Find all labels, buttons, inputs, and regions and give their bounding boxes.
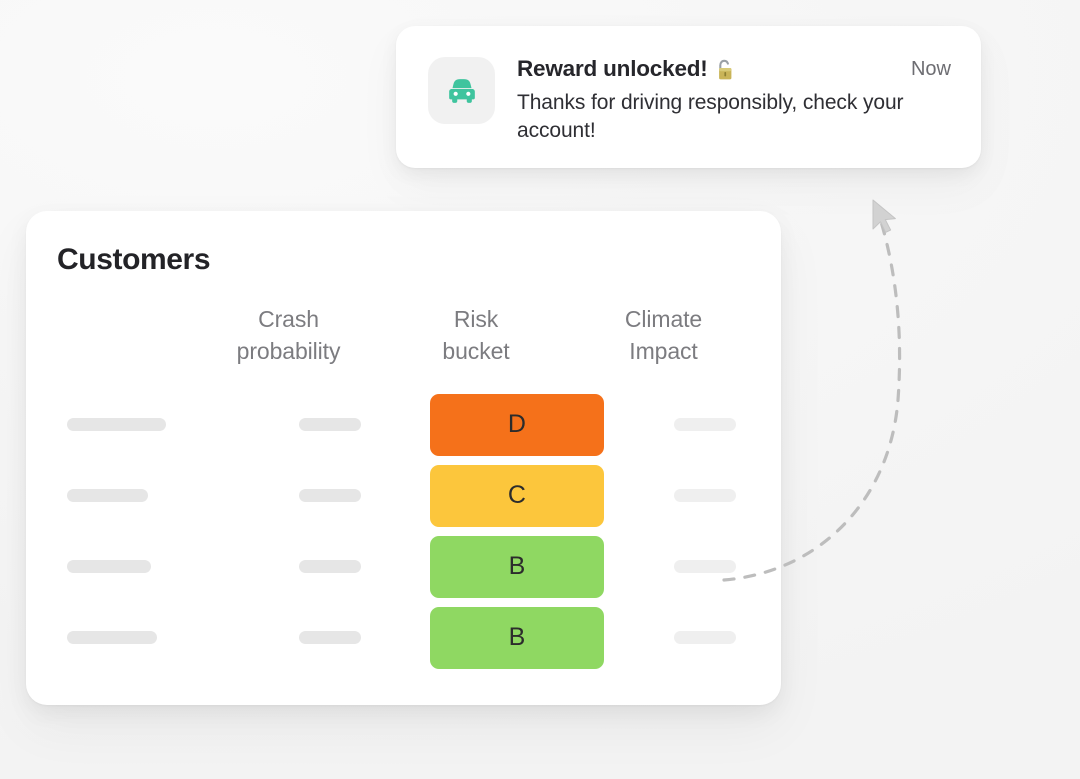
climate-placeholder-bar <box>674 631 736 644</box>
notification-toast[interactable]: Reward unlocked! Now Thanks for driving … <box>396 26 981 168</box>
column-header-crash-line1: Crash <box>201 304 376 336</box>
climate-placeholder-bar <box>674 560 736 573</box>
column-header-risk-line1: Risk <box>376 304 576 336</box>
cell-crash-probability <box>242 489 417 502</box>
name-placeholder-bar <box>67 631 157 644</box>
column-header-risk-line2: bucket <box>376 336 576 368</box>
car-icon <box>428 57 495 124</box>
cell-risk-bucket: D <box>417 394 617 456</box>
cell-customer-name <box>26 560 242 573</box>
crash-placeholder-bar <box>299 631 361 644</box>
climate-placeholder-bar <box>674 489 736 502</box>
table-header-row: Crash probability Risk bucket Climate Im… <box>26 304 781 367</box>
name-placeholder-bar <box>67 418 166 431</box>
name-placeholder-bar <box>67 560 151 573</box>
column-header-climate-line2: Impact <box>576 336 751 368</box>
customers-panel: Customers Crash probability Risk bucket … <box>26 211 781 705</box>
risk-bucket-badge[interactable]: B <box>430 607 604 669</box>
cell-crash-probability <box>242 631 417 644</box>
crash-placeholder-bar <box>299 418 361 431</box>
cell-climate-impact <box>617 418 781 431</box>
column-header-risk-bucket: Risk bucket <box>376 304 576 367</box>
crash-placeholder-bar <box>299 489 361 502</box>
crash-placeholder-bar <box>299 560 361 573</box>
notification-header: Reward unlocked! Now <box>517 55 951 82</box>
cell-climate-impact <box>617 631 781 644</box>
notification-title: Reward unlocked! <box>517 55 708 82</box>
table-row[interactable]: B <box>26 602 781 673</box>
cell-climate-impact <box>617 489 781 502</box>
cell-climate-impact <box>617 560 781 573</box>
page-title: Customers <box>57 243 210 277</box>
cell-customer-name <box>26 418 242 431</box>
column-header-crash-line2: probability <box>201 336 376 368</box>
mouse-cursor-icon <box>873 200 895 232</box>
table-row[interactable]: B <box>26 531 781 602</box>
cell-risk-bucket: B <box>417 607 617 669</box>
risk-bucket-badge[interactable]: C <box>430 465 604 527</box>
cell-risk-bucket: B <box>417 536 617 598</box>
unlocked-padlock-icon <box>716 59 733 81</box>
cell-customer-name <box>26 489 242 502</box>
table-row[interactable]: D <box>26 389 781 460</box>
notification-timestamp: Now <box>911 55 951 82</box>
column-header-climate-line1: Climate <box>576 304 751 336</box>
cell-crash-probability <box>242 560 417 573</box>
table-row[interactable]: C <box>26 460 781 531</box>
table-body: D C <box>26 389 781 673</box>
cell-crash-probability <box>242 418 417 431</box>
notification-body: Reward unlocked! Now Thanks for driving … <box>517 54 951 145</box>
cell-customer-name <box>26 631 242 644</box>
risk-bucket-badge[interactable]: B <box>430 536 604 598</box>
column-header-crash-probability: Crash probability <box>201 304 376 367</box>
risk-bucket-badge[interactable]: D <box>430 394 604 456</box>
name-placeholder-bar <box>67 489 148 502</box>
notification-message: Thanks for driving responsibly, check yo… <box>517 89 907 144</box>
notification-title-row: Reward unlocked! <box>517 55 733 82</box>
column-header-climate-impact: Climate Impact <box>576 304 751 367</box>
customers-table: Crash probability Risk bucket Climate Im… <box>26 304 781 673</box>
app-background: Reward unlocked! Now Thanks for driving … <box>0 0 1080 779</box>
cell-risk-bucket: C <box>417 465 617 527</box>
climate-placeholder-bar <box>674 418 736 431</box>
